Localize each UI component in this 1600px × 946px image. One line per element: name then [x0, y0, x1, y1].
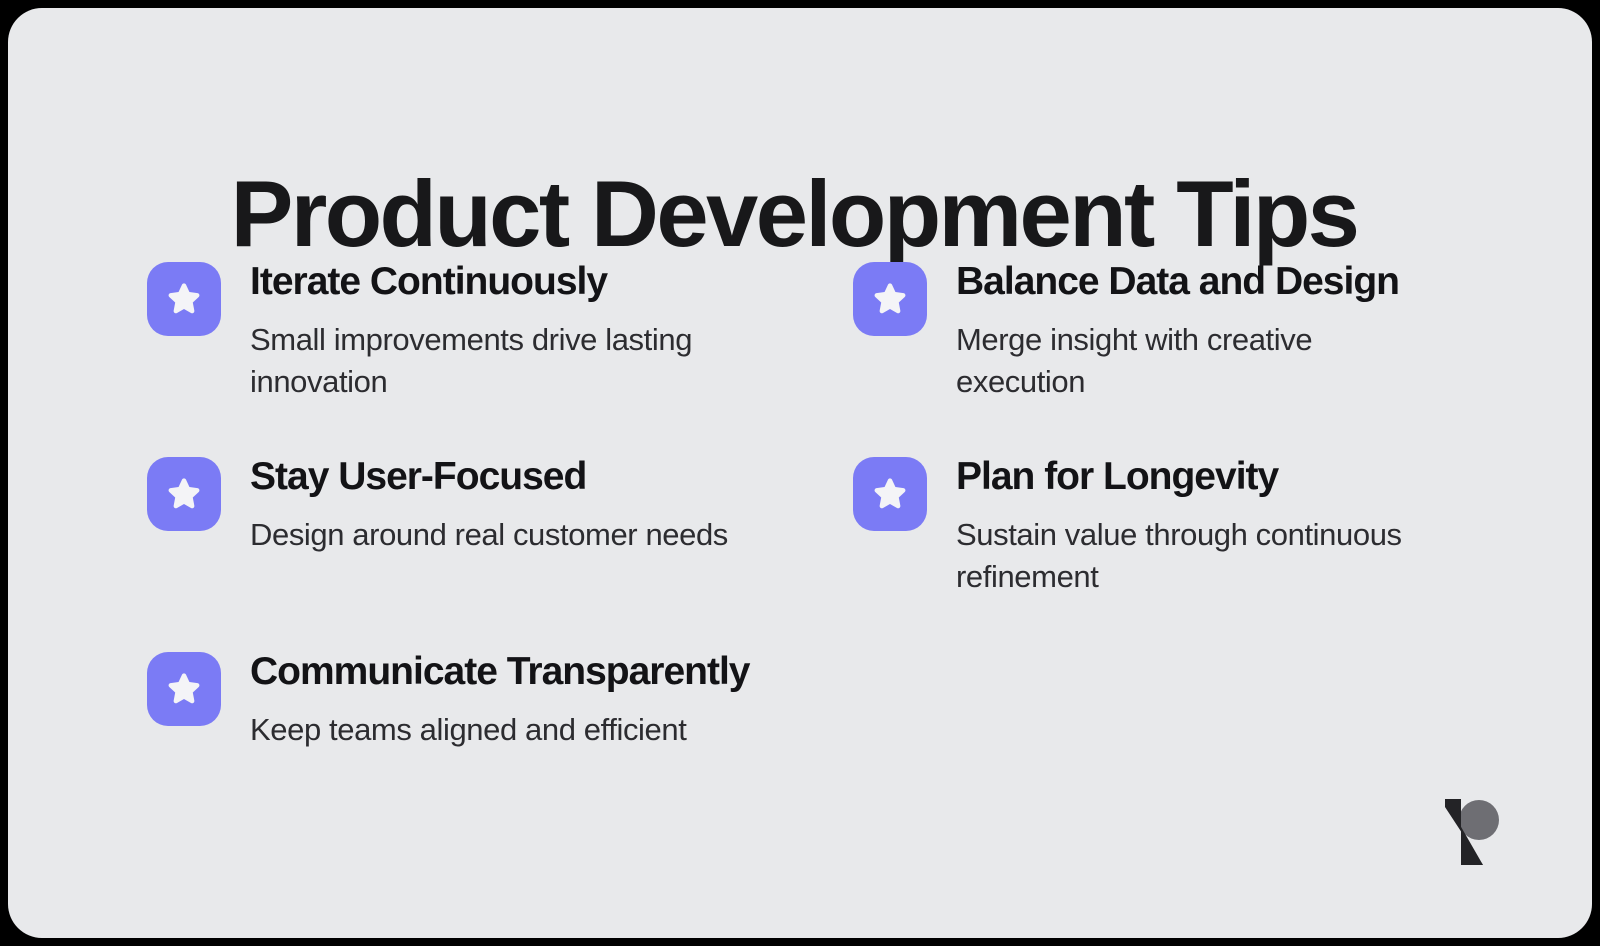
slide-card: Product Development Tips Iterate Continu…	[8, 8, 1592, 938]
tip-body: Plan for Longevity Sustain value through…	[956, 457, 1493, 598]
tip-item: Plan for Longevity Sustain value through…	[853, 457, 1493, 598]
tip-description: Small improvements drive lasting innovat…	[250, 319, 730, 403]
tip-title: Stay User-Focused	[250, 457, 787, 498]
tip-title: Plan for Longevity	[956, 457, 1493, 498]
star-icon	[147, 652, 221, 726]
star-icon	[853, 262, 927, 336]
tip-item: Balance Data and Design Merge insight wi…	[853, 262, 1493, 403]
r-monogram-logo	[1445, 799, 1499, 865]
tip-title: Balance Data and Design	[956, 262, 1493, 303]
tip-description: Keep teams aligned and efficient	[250, 709, 730, 751]
star-icon	[147, 457, 221, 531]
tip-item: Iterate Continuously Small improvements …	[147, 262, 787, 403]
star-icon	[853, 457, 927, 531]
tip-item: Stay User-Focused Design around real cus…	[147, 457, 787, 556]
tip-description: Merge insight with creative execution	[956, 319, 1426, 403]
tip-body: Iterate Continuously Small improvements …	[250, 262, 787, 403]
tip-title: Communicate Transparently	[250, 652, 787, 693]
tip-body: Balance Data and Design Merge insight wi…	[956, 262, 1493, 403]
tip-title: Iterate Continuously	[250, 262, 787, 303]
tip-description: Design around real customer needs	[250, 514, 730, 556]
tip-body: Stay User-Focused Design around real cus…	[250, 457, 787, 556]
star-icon	[147, 262, 221, 336]
tip-description: Sustain value through continuous refinem…	[956, 514, 1426, 598]
tip-item: Communicate Transparently Keep teams ali…	[147, 652, 787, 751]
tip-body: Communicate Transparently Keep teams ali…	[250, 652, 787, 751]
tips-list: Iterate Continuously Small improvements …	[8, 8, 1592, 938]
